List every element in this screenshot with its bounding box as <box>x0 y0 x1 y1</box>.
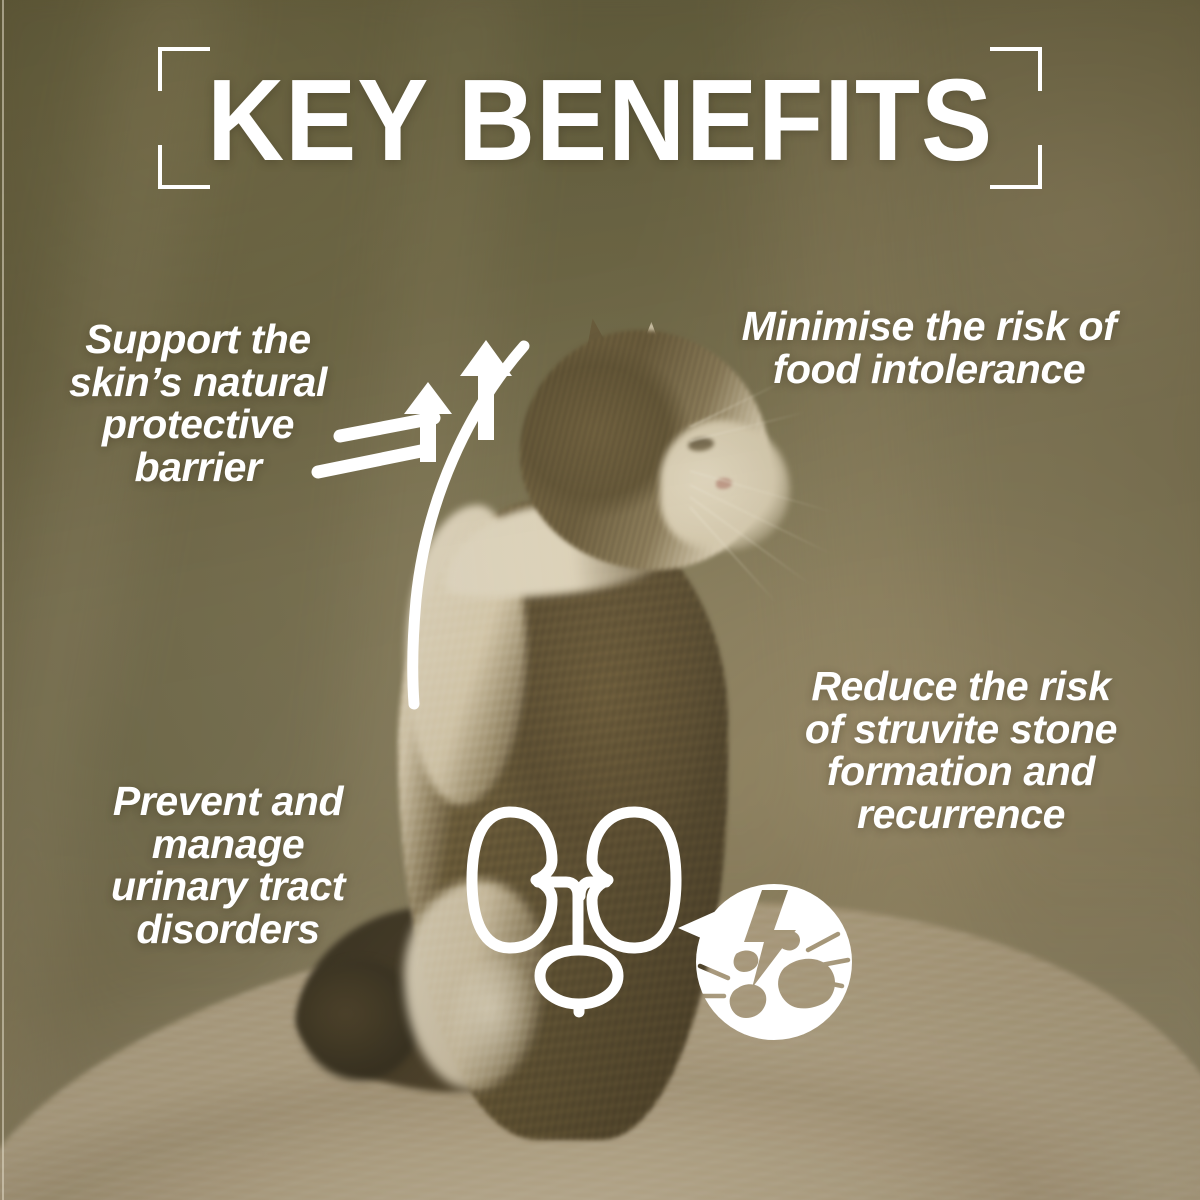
key-benefits-infographic: KEY BENEFITS Support the skin’s natural … <box>0 0 1200 1200</box>
kidneys-bladder-icon <box>466 800 696 1010</box>
icon-layer <box>0 0 1200 1200</box>
stone-lightning-strike-icon <box>666 872 866 1044</box>
skin-barrier-arrows-icon <box>318 332 558 722</box>
